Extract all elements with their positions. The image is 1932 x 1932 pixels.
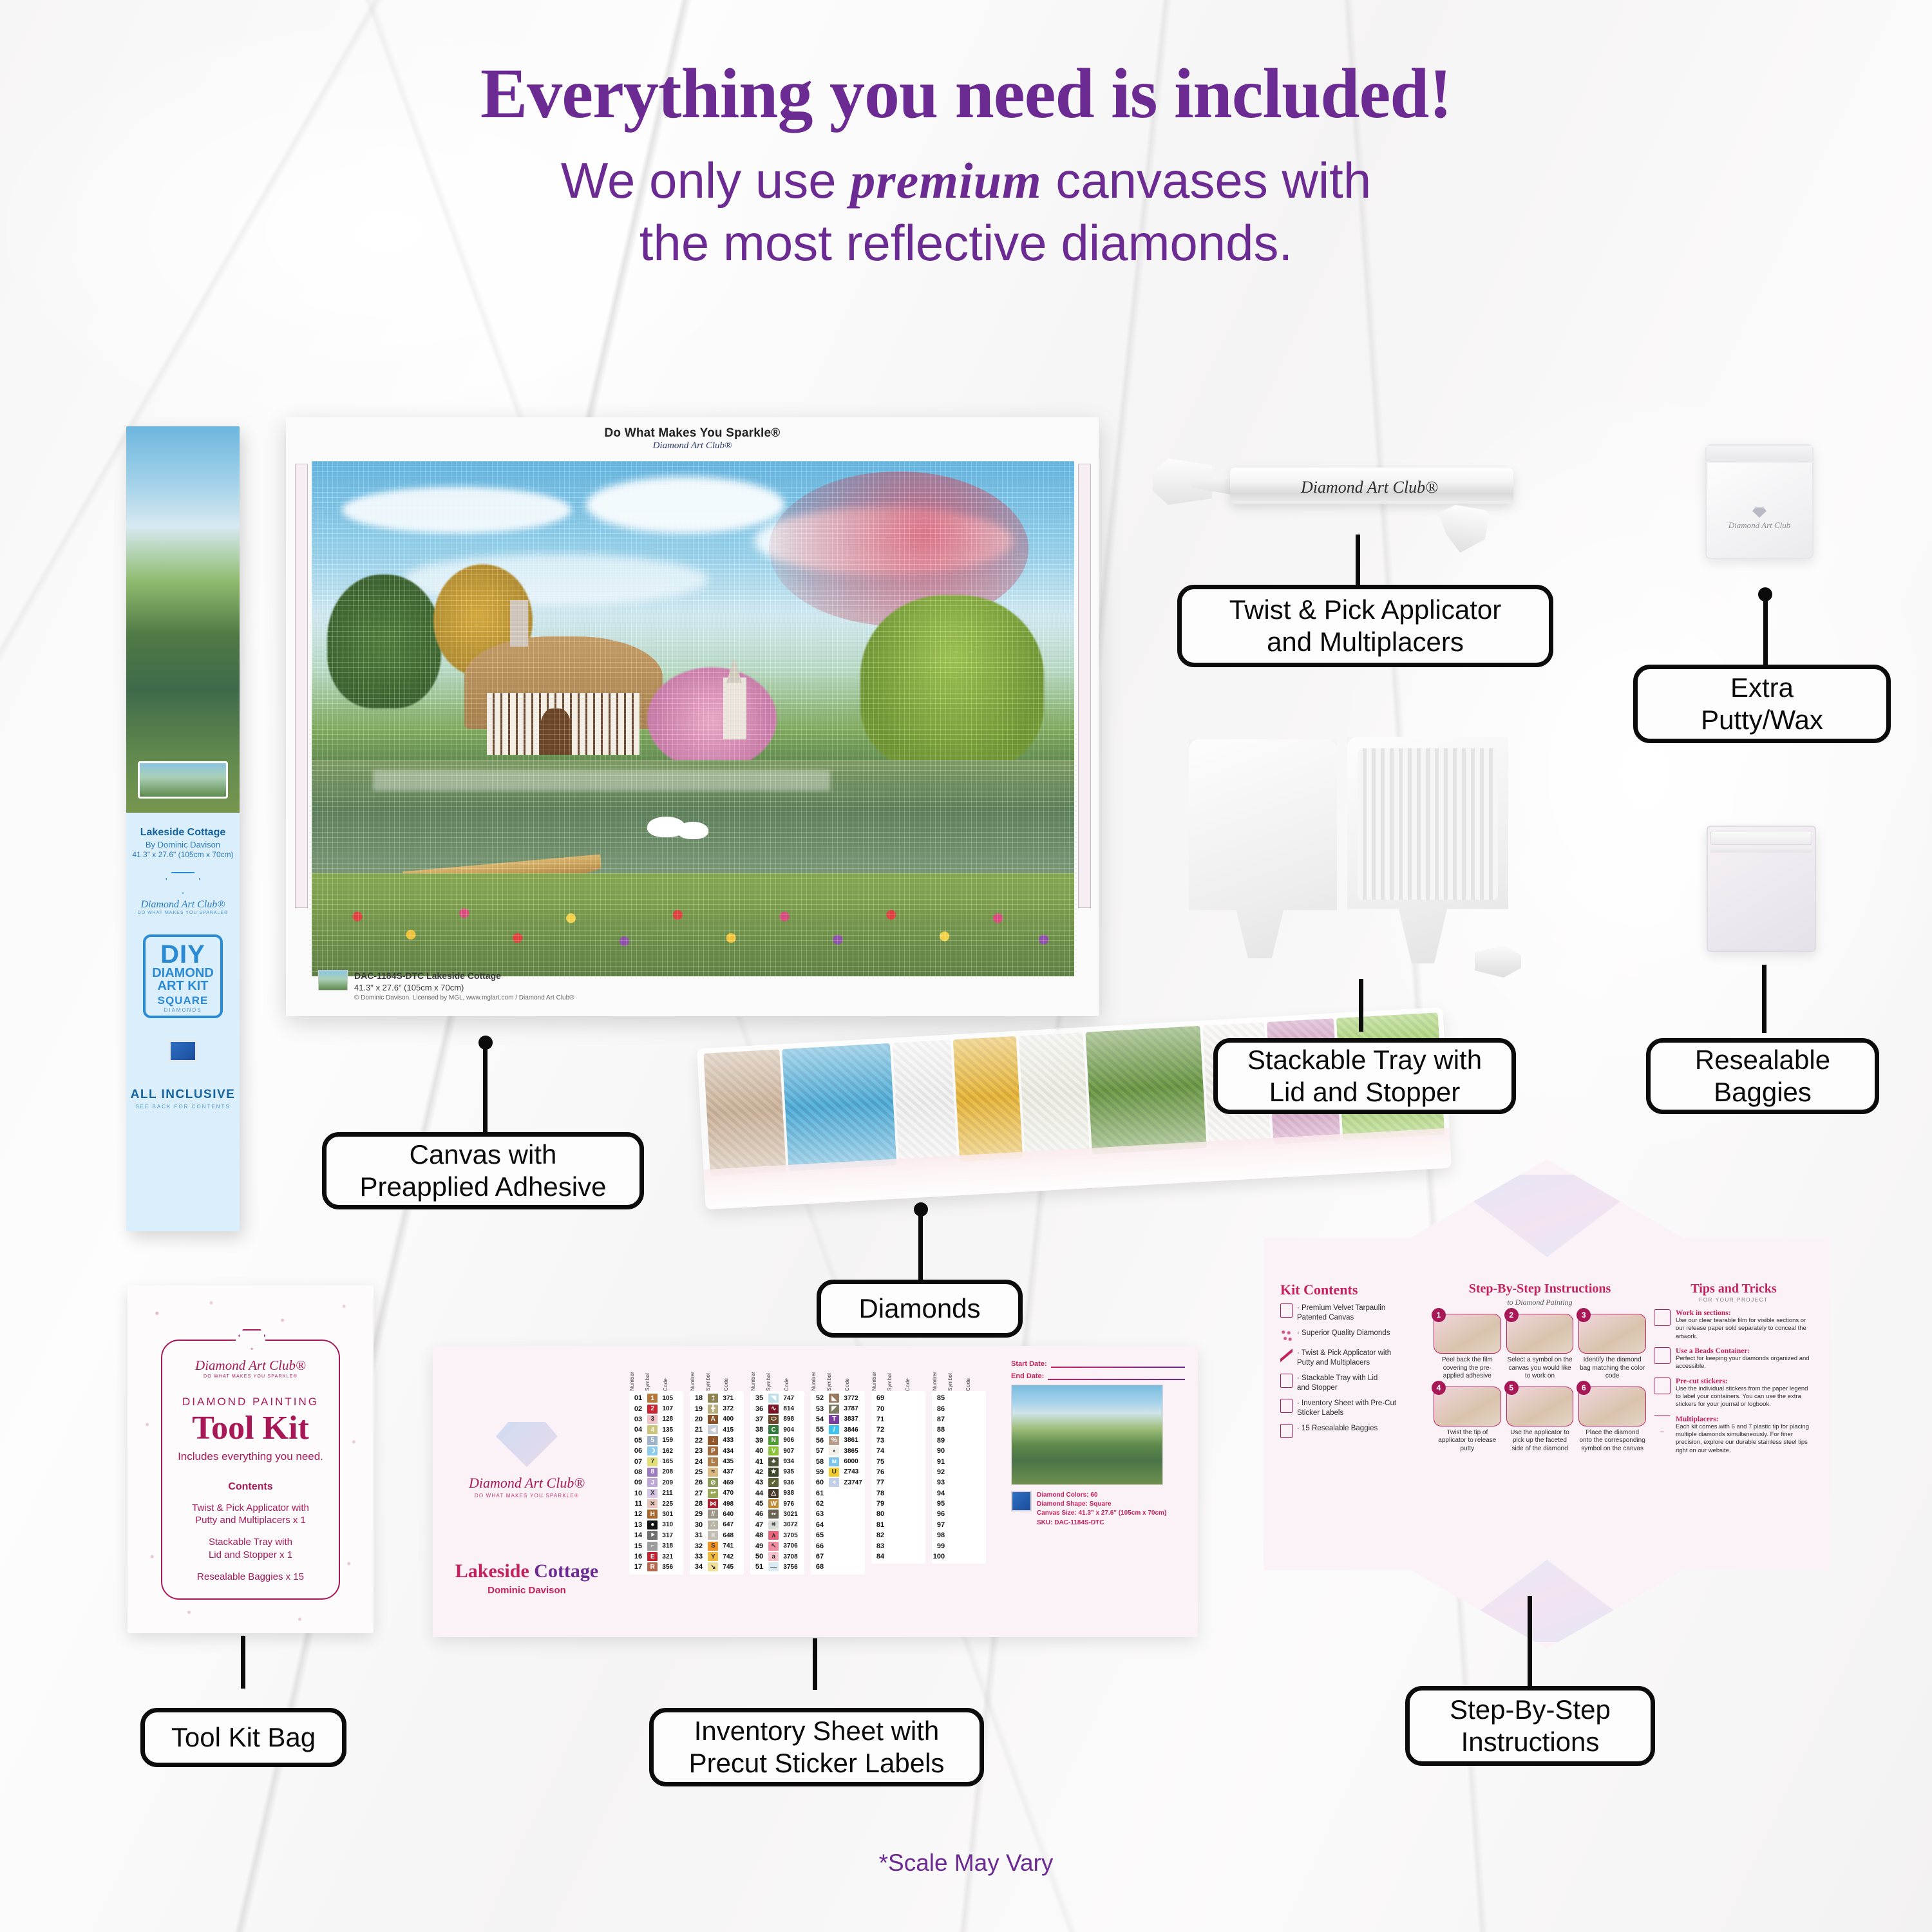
inventory-symbol-swatch[interactable]: T <box>829 1415 839 1424</box>
kit-contents-list: · Premium Velvet Tarpaulin Patented Canv… <box>1280 1303 1426 1438</box>
inventory-symbol-swatch[interactable]: ⬭ <box>768 1415 779 1424</box>
inventory-number: 06 <box>629 1447 645 1455</box>
inventory-meta-shape: Diamond Shape: Square <box>1037 1500 1166 1509</box>
inventory-symbol-swatch[interactable] <box>889 1457 900 1466</box>
diamond-icon <box>236 1328 265 1349</box>
table-row: 94 <box>932 1488 986 1499</box>
kit-contents-item: · Inventory Sheet with Pre-Cut Sticker L… <box>1280 1399 1426 1418</box>
inventory-symbol-swatch[interactable] <box>950 1394 960 1403</box>
inventory-symbol-swatch[interactable]: — <box>768 1562 779 1571</box>
inventory-number: 47 <box>750 1521 766 1529</box>
inventory-brand: Diamond Art Club® <box>433 1475 621 1492</box>
inventory-symbol-swatch[interactable] <box>829 1542 839 1551</box>
table-row: 24L435 <box>690 1456 744 1466</box>
inventory-symbol-swatch[interactable]: J <box>647 1478 658 1487</box>
inventory-symbol-swatch[interactable]: м <box>829 1457 839 1466</box>
inventory-symbol-swatch[interactable] <box>889 1542 900 1551</box>
inventory-symbol-swatch[interactable]: % <box>829 1436 839 1445</box>
inventory-artwork-thumbnail <box>1011 1385 1163 1485</box>
inventory-symbol-swatch[interactable] <box>950 1415 960 1424</box>
callout-putty[interactable]: Extra Putty/Wax <box>1633 665 1891 743</box>
inventory-code: 6000 <box>841 1458 865 1465</box>
table-row: 98 <box>932 1530 986 1540</box>
inventory-header-code: Code <box>965 1378 986 1391</box>
inventory-symbol-swatch[interactable]: ↩ <box>708 1489 718 1498</box>
inventory-code: 3846 <box>841 1426 865 1434</box>
inventory-symbol-swatch[interactable]: ≈ <box>708 1468 718 1477</box>
inventory-number: 99 <box>932 1542 948 1550</box>
inventory-meta-sku: SKU: DAC-1184S-DTC <box>1037 1519 1166 1528</box>
callout-diamonds[interactable]: Diamonds <box>817 1280 1023 1338</box>
inventory-symbol-swatch[interactable]: ⯈ <box>647 1531 658 1540</box>
tray-grooves <box>1358 748 1498 900</box>
inventory-symbol-swatch[interactable]: W <box>768 1499 779 1508</box>
table-row: 22↓433 <box>690 1435 744 1446</box>
inventory-meta-size: Canvas Size: 41.3" x 27.6" (105cm x 70cm… <box>1037 1509 1166 1518</box>
inventory-meta: Diamond Colors: 60 Diamond Shape: Square… <box>1011 1491 1185 1528</box>
leader-line <box>1762 965 1766 1033</box>
extra-putty-bag: Diamond Art Club <box>1705 444 1814 559</box>
inventory-symbol-swatch[interactable] <box>889 1425 900 1434</box>
inventory-symbol-swatch[interactable] <box>950 1510 960 1519</box>
inventory-number: 45 <box>750 1500 766 1508</box>
inventory-symbol-swatch[interactable]: S <box>708 1542 718 1551</box>
inventory-symbol-swatch[interactable]: 5 <box>647 1436 658 1445</box>
inventory-symbol-swatch[interactable]: ◣ <box>829 1394 839 1403</box>
inventory-number: 12 <box>629 1510 645 1518</box>
inventory-symbol-swatch[interactable]: 3 <box>647 1415 658 1424</box>
table-row: 90 <box>932 1446 986 1456</box>
diamond-icon <box>1752 507 1766 518</box>
leader-line <box>1763 594 1768 666</box>
table-row: 06☽162 <box>629 1446 683 1456</box>
inventory-code: 469 <box>720 1479 744 1486</box>
toolkit-panel: Diamond Art Club® DO WHAT MAKES YOU SPAR… <box>161 1340 340 1600</box>
inventory-number: 90 <box>932 1447 948 1455</box>
inventory-number: 71 <box>871 1416 887 1423</box>
inventory-number: 44 <box>750 1490 766 1497</box>
inventory-code: 3861 <box>841 1437 865 1444</box>
toolkit-eyebrow: DIAMOND PAINTING <box>162 1396 339 1408</box>
tips-heading: Tips and Tricks <box>1654 1282 1814 1296</box>
instruction-step: 6Place the diamond onto the correspondin… <box>1578 1387 1646 1454</box>
inventory-side-panel: Start Date: End Date: Diamond Colors: 60… <box>1011 1360 1185 1528</box>
canvas-thumbnail <box>318 970 348 990</box>
tip-title: Pre-cut stickers: <box>1676 1378 1814 1385</box>
inventory-symbol-swatch[interactable]: ∧ <box>768 1531 779 1540</box>
inventory-column: NumberSymbolCode011105022107033128044135… <box>626 1364 687 1575</box>
inventory-symbol-swatch[interactable]: a <box>768 1552 779 1561</box>
inventory-symbol-swatch[interactable] <box>889 1489 900 1498</box>
kit-contents-label: · Stackable Tray with Lid and Stopper <box>1297 1374 1378 1393</box>
kit-contents-item: · Premium Velvet Tarpaulin Patented Canv… <box>1280 1303 1426 1323</box>
inventory-symbol-swatch[interactable] <box>889 1405 900 1414</box>
inventory-symbol-swatch[interactable]: 8 <box>647 1468 658 1477</box>
inventory-code: 372 <box>720 1405 744 1412</box>
box-artwork <box>126 426 240 813</box>
inventory-number: 25 <box>690 1468 706 1476</box>
inventory-symbol-swatch[interactable]: △ <box>768 1489 779 1498</box>
diy-badge-square-sub: DIAMONDS <box>146 1007 220 1013</box>
inventory-symbol-swatch[interactable]: A <box>708 1415 718 1424</box>
inventory-number: 86 <box>932 1405 948 1413</box>
diy-badge-line3: ART KIT <box>146 980 220 993</box>
inventory-symbol-swatch[interactable] <box>829 1489 839 1498</box>
table-row: 38C904 <box>750 1425 804 1435</box>
inventory-number: 33 <box>690 1553 706 1560</box>
inventory-symbol-swatch[interactable]: P <box>708 1446 718 1455</box>
inventory-symbol-swatch[interactable]: ✓ <box>768 1478 779 1487</box>
inventory-header-code: Code <box>844 1378 865 1391</box>
inventory-symbol-swatch[interactable]: ∴ <box>708 1520 718 1529</box>
tips-list: Work in sections:Use our clear tearable … <box>1654 1309 1814 1455</box>
inventory-sheet: Diamond Art Club® DO WHAT MAKES YOU SPAR… <box>433 1346 1198 1637</box>
beads-container-icon <box>1654 1347 1671 1364</box>
inventory-brand-tagline: DO WHAT MAKES YOU SPARKLE® <box>433 1493 621 1499</box>
inventory-number: 62 <box>811 1500 827 1508</box>
steps-column: Step-By-Step Instructions to Diamond Pai… <box>1434 1282 1646 1455</box>
inventory-code: 317 <box>659 1532 683 1539</box>
toolkit-content-item: Resealable Baggies x 15 <box>162 1571 339 1584</box>
inventory-symbol-swatch[interactable]: X <box>647 1489 658 1498</box>
inventory-code: 310 <box>659 1521 683 1528</box>
inventory-number: 79 <box>871 1500 887 1508</box>
table-row: 60+Z3747 <box>811 1477 865 1488</box>
inventory-number: 93 <box>932 1479 948 1486</box>
inventory-symbol-swatch[interactable] <box>950 1405 960 1414</box>
canvas-artwork <box>312 461 1074 976</box>
inventory-number: 49 <box>750 1542 766 1550</box>
leader-line <box>1356 535 1360 585</box>
inventory-number: 80 <box>871 1510 887 1518</box>
inventory-symbol-swatch[interactable]: ✕ <box>647 1499 658 1508</box>
inventory-number: 75 <box>871 1458 887 1466</box>
inventory-number: 87 <box>932 1416 948 1423</box>
inventory-code: 435 <box>720 1458 744 1465</box>
inventory-number: 37 <box>750 1416 766 1423</box>
table-row: 40V907 <box>750 1446 804 1456</box>
funnel-icon <box>1654 1416 1671 1432</box>
instruction-step: 4Twist the tip of applicator to release … <box>1434 1387 1501 1454</box>
inventory-symbol-swatch[interactable] <box>889 1436 900 1445</box>
inventory-symbol-swatch[interactable] <box>829 1552 839 1561</box>
inventory-symbol-swatch[interactable]: ↖ <box>768 1542 779 1551</box>
inventory-code: Z3747 <box>841 1479 865 1486</box>
table-row: 29//640 <box>690 1509 744 1519</box>
inventory-number: 09 <box>629 1479 645 1486</box>
inventory-header-code: Code <box>784 1378 804 1391</box>
sheet-icon <box>1280 1399 1293 1413</box>
table-row: 36∿814 <box>750 1403 804 1414</box>
inventory-symbol-swatch[interactable]: H <box>647 1510 658 1519</box>
callout-tray[interactable]: Stackable Tray with Lid and Stopper <box>1213 1038 1516 1114</box>
inventory-column-headers: NumberSymbolCode <box>871 1364 925 1391</box>
inventory-symbol-swatch[interactable]: 4 <box>647 1425 658 1434</box>
inventory-number: 67 <box>811 1553 827 1560</box>
inventory-symbol-swatch[interactable]: + <box>829 1478 839 1487</box>
callout-baggies[interactable]: Resealable Baggies <box>1646 1038 1879 1114</box>
inventory-number: 42 <box>750 1468 766 1476</box>
inventory-rows: 35◥74736∿81437⬭89838C90439N90640V90741♣9… <box>750 1391 804 1575</box>
callout-instructions[interactable]: Step-By-Step Instructions <box>1405 1686 1655 1766</box>
inventory-symbol-swatch[interactable]: ♣ <box>768 1457 779 1466</box>
inventory-title: Lakeside Cottage <box>433 1560 621 1582</box>
inventory-code: 371 <box>720 1395 744 1402</box>
inventory-number: 94 <box>932 1490 948 1497</box>
inventory-number: 73 <box>871 1437 887 1444</box>
box-artist: By Dominic Davison <box>126 840 240 849</box>
table-row: 20A400 <box>690 1414 744 1425</box>
inventory-column: NumberSymbolCode697071727374757677787980… <box>868 1364 929 1575</box>
inventory-header-symbol: Symbol <box>645 1373 663 1391</box>
inventory-number: 29 <box>690 1510 706 1518</box>
inventory-symbol-swatch[interactable] <box>889 1499 900 1508</box>
inventory-symbol-swatch[interactable]: ⊘ <box>708 1478 718 1487</box>
table-row: 88 <box>932 1425 986 1435</box>
canvas-tagline: Do What Makes You Sparkle® <box>286 426 1099 440</box>
inventory-code: 415 <box>720 1426 744 1434</box>
inventory-number: 95 <box>932 1500 948 1508</box>
inventory-symbol-swatch[interactable]: V <box>768 1446 779 1455</box>
table-row: 077165 <box>629 1456 683 1466</box>
table-row: 37⬭898 <box>750 1414 804 1425</box>
inventory-symbol-swatch[interactable]: R <box>647 1562 658 1571</box>
table-row: 12H301 <box>629 1509 683 1519</box>
callout-canvas[interactable]: Canvas with Preapplied Adhesive <box>322 1132 644 1209</box>
inventory-symbol-swatch[interactable] <box>889 1531 900 1540</box>
inventory-number: 51 <box>750 1563 766 1571</box>
step-number-badge: 2 <box>1504 1308 1519 1322</box>
table-row: 72 <box>871 1425 925 1435</box>
inventory-symbol-swatch[interactable]: ⌗ <box>768 1520 779 1529</box>
inventory-column-headers: NumberSymbolCode <box>629 1364 683 1391</box>
table-row: 75 <box>871 1456 925 1466</box>
bag-icon <box>1280 1424 1293 1438</box>
inventory-symbol-swatch[interactable] <box>889 1468 900 1477</box>
table-row: 31=648 <box>690 1530 744 1540</box>
inventory-symbol-swatch[interactable] <box>889 1394 900 1403</box>
inventory-code: 400 <box>720 1416 744 1423</box>
tool-kit-bag: Diamond Art Club® DO WHAT MAKES YOU SPAR… <box>128 1285 374 1633</box>
inventory-header-symbol: Symbol <box>947 1373 965 1391</box>
table-row: 80 <box>871 1509 925 1519</box>
canvas-header-logo: Do What Makes You Sparkle® Diamond Art C… <box>286 426 1099 451</box>
inventory-symbol-swatch[interactable] <box>950 1436 960 1445</box>
inventory-symbol-swatch[interactable] <box>889 1510 900 1519</box>
table-row: 48∧3705 <box>750 1530 804 1540</box>
bag-seal <box>1707 446 1812 462</box>
inventory-code: 211 <box>659 1490 683 1497</box>
instruction-step: 3Identify the diamond bag matching the c… <box>1578 1314 1646 1381</box>
inventory-symbol-swatch[interactable]: ▪ <box>829 1446 839 1455</box>
inventory-symbol-swatch[interactable] <box>829 1510 839 1519</box>
inventory-number: 27 <box>690 1490 706 1497</box>
inventory-code: 208 <box>659 1468 683 1475</box>
inventory-symbol-swatch[interactable]: ◥ <box>768 1394 779 1403</box>
tip-body: Each kit comes with 6 and 7 plastic tip … <box>1676 1423 1814 1455</box>
callout-inventory[interactable]: Inventory Sheet with Precut Sticker Labe… <box>649 1708 984 1786</box>
inventory-symbol-swatch[interactable]: N <box>768 1436 779 1445</box>
inventory-header-symbol: Symbol <box>705 1373 723 1391</box>
step-caption: Select a symbol on the canvas you would … <box>1506 1356 1574 1381</box>
table-row: 055159 <box>629 1435 683 1446</box>
callout-applicator[interactable]: Twist & Pick Applicator and Multiplacers <box>1177 585 1553 667</box>
inventory-code: 976 <box>781 1501 804 1508</box>
box-title: Lakeside Cottage <box>126 827 240 838</box>
inventory-symbol-swatch[interactable] <box>829 1499 839 1508</box>
end-date-rule[interactable] <box>1048 1379 1185 1380</box>
canvas-sku-line: DAC-1184S-DTC Lakeside Cottage <box>354 970 574 982</box>
table-row: 65 <box>811 1530 865 1540</box>
inventory-symbol-swatch[interactable] <box>950 1499 960 1508</box>
inventory-symbol-swatch[interactable] <box>950 1425 960 1434</box>
inventory-legend-table: NumberSymbolCode011105022107033128044135… <box>626 1364 989 1575</box>
inventory-symbol-swatch[interactable] <box>889 1446 900 1455</box>
step-photo: 2 <box>1506 1314 1574 1354</box>
inventory-symbol-swatch[interactable] <box>950 1542 960 1551</box>
inventory-symbol-swatch[interactable]: ● <box>647 1520 658 1529</box>
leader-line <box>813 1638 817 1690</box>
tip-item: Work in sections:Use our clear tearable … <box>1654 1309 1814 1341</box>
table-row: 64 <box>811 1520 865 1530</box>
inventory-symbol-swatch[interactable]: / <box>829 1425 839 1434</box>
inventory-symbol-swatch[interactable] <box>889 1520 900 1529</box>
inventory-symbol-swatch[interactable]: ↘ <box>708 1562 718 1571</box>
inventory-code: 225 <box>659 1501 683 1508</box>
inventory-symbol-swatch[interactable]: ╋ <box>708 1405 718 1414</box>
inventory-symbol-swatch[interactable]: ★ <box>768 1468 779 1477</box>
inventory-number: 56 <box>811 1437 827 1444</box>
table-row: 87 <box>932 1414 986 1425</box>
inventory-symbol-swatch[interactable]: ⋈ <box>708 1499 718 1508</box>
leader-line <box>1528 1596 1532 1686</box>
inventory-symbol-swatch[interactable] <box>950 1446 960 1455</box>
inventory-number: 07 <box>629 1458 645 1466</box>
inventory-symbol-swatch[interactable]: ∿ <box>768 1405 779 1414</box>
toolkit-title: Tool Kit <box>162 1411 339 1446</box>
inventory-symbol-swatch[interactable] <box>829 1531 839 1540</box>
inventory-number: 72 <box>871 1426 887 1434</box>
table-row: 088208 <box>629 1467 683 1477</box>
inventory-symbol-swatch[interactable] <box>950 1489 960 1498</box>
inventory-symbol-swatch[interactable]: // <box>708 1510 718 1519</box>
inventory-symbol-swatch[interactable]: ⌐ <box>647 1542 658 1551</box>
table-row: 11✕225 <box>629 1499 683 1509</box>
inventory-number: 63 <box>811 1510 827 1518</box>
table-row: 59UZ743 <box>811 1467 865 1477</box>
inventory-number: 04 <box>629 1426 645 1434</box>
inventory-symbol-swatch[interactable] <box>950 1531 960 1540</box>
inventory-code: 647 <box>720 1521 744 1528</box>
inventory-symbol-swatch[interactable] <box>889 1552 900 1561</box>
box-info-panel: Lakeside Cottage By Dominic Davison 41.3… <box>126 813 240 1231</box>
inventory-symbol-swatch[interactable]: U <box>829 1468 839 1477</box>
inventory-number: 19 <box>690 1405 706 1413</box>
inventory-symbol-swatch[interactable]: ◀ <box>708 1425 718 1434</box>
inventory-symbol-swatch[interactable]: ☽ <box>647 1446 658 1455</box>
inventory-symbol-swatch[interactable] <box>950 1520 960 1529</box>
diy-badge-line1: DIY <box>146 942 220 967</box>
inventory-rows: 69707172737475767778798081828384 <box>871 1391 925 1564</box>
inventory-number: 15 <box>629 1542 645 1550</box>
table-row: 95 <box>932 1499 986 1509</box>
inventory-number: 52 <box>811 1394 827 1402</box>
inventory-symbol-swatch[interactable] <box>950 1468 960 1477</box>
step-caption: Peel back the film covering the pre-appl… <box>1434 1356 1501 1381</box>
inventory-symbol-swatch[interactable] <box>950 1457 960 1466</box>
end-date-label: End Date: <box>1011 1372 1044 1380</box>
table-row: 46••3021 <box>750 1509 804 1519</box>
table-row: 54T3837 <box>811 1414 865 1425</box>
inventory-symbol-swatch[interactable]: 7 <box>647 1457 658 1466</box>
toolkit-content-item: Twist & Pick Applicator with Putty and M… <box>162 1502 339 1528</box>
inventory-symbol-swatch[interactable]: C <box>768 1425 779 1434</box>
inventory-symbol-swatch[interactable] <box>889 1478 900 1487</box>
table-row: 044135 <box>629 1425 683 1435</box>
resealable-baggies <box>1707 826 1816 952</box>
inventory-symbol-swatch[interactable] <box>950 1478 960 1487</box>
inventory-code: 318 <box>659 1542 683 1549</box>
table-row: 26⊘469 <box>690 1477 744 1488</box>
inventory-symbol-swatch[interactable]: 2 <box>647 1405 658 1414</box>
inventory-symbol-swatch[interactable]: L <box>708 1457 718 1466</box>
inventory-symbol-swatch[interactable]: Y <box>708 1552 718 1561</box>
inventory-artist: Dominic Davison <box>433 1585 621 1596</box>
kit-contents-label: · Inventory Sheet with Pre-Cut Sticker L… <box>1297 1399 1396 1418</box>
inventory-number: 96 <box>932 1510 948 1518</box>
callout-toolkit[interactable]: Tool Kit Bag <box>140 1708 346 1767</box>
inventory-number: 41 <box>750 1458 766 1466</box>
inventory-number: 78 <box>871 1490 887 1497</box>
table-row: 41♣934 <box>750 1456 804 1466</box>
table-row: 35◥747 <box>750 1393 804 1403</box>
inventory-number: 17 <box>629 1563 645 1571</box>
inventory-number: 43 <box>750 1479 766 1486</box>
inventory-number: 26 <box>690 1479 706 1486</box>
inventory-code: 742 <box>720 1553 744 1560</box>
start-date-rule[interactable] <box>1051 1367 1185 1368</box>
table-row: 30∴647 <box>690 1520 744 1530</box>
inventory-symbol-swatch[interactable]: ‡ <box>708 1394 718 1403</box>
inventory-code: 904 <box>781 1426 804 1434</box>
inventory-symbol-swatch[interactable]: ◤ <box>829 1405 839 1414</box>
inventory-number: 36 <box>750 1405 766 1413</box>
table-row: 82 <box>871 1530 925 1540</box>
inventory-symbol-swatch[interactable]: 1 <box>647 1394 658 1403</box>
inventory-symbol-swatch[interactable]: •• <box>768 1510 779 1519</box>
inventory-symbol-swatch[interactable]: ↓ <box>708 1436 718 1445</box>
inventory-header-code: Code <box>663 1378 683 1391</box>
table-row: 16E321 <box>629 1551 683 1562</box>
inventory-symbol-swatch[interactable] <box>950 1552 960 1561</box>
inventory-symbol-swatch[interactable] <box>829 1520 839 1529</box>
inventory-header-number: Number <box>811 1372 826 1391</box>
table-row: 19╋372 <box>690 1403 744 1414</box>
table-row: 99 <box>932 1540 986 1551</box>
inventory-number: 11 <box>629 1500 645 1508</box>
table-row: 53◤3787 <box>811 1403 865 1414</box>
inventory-symbol-swatch[interactable] <box>889 1415 900 1424</box>
step-photo: 3 <box>1578 1314 1646 1354</box>
box-artwork-inset <box>138 761 228 799</box>
inventory-symbol-swatch[interactable] <box>829 1562 839 1571</box>
inventory-number: 82 <box>871 1531 887 1539</box>
kit-contents-column: Kit Contents · Premium Velvet Tarpaulin … <box>1280 1282 1426 1455</box>
inventory-symbol-swatch[interactable]: = <box>708 1531 718 1540</box>
inventory-symbol-swatch[interactable]: E <box>647 1552 658 1561</box>
table-row: 033128 <box>629 1414 683 1425</box>
step-caption: Place the diamond onto the corresponding… <box>1578 1429 1646 1454</box>
